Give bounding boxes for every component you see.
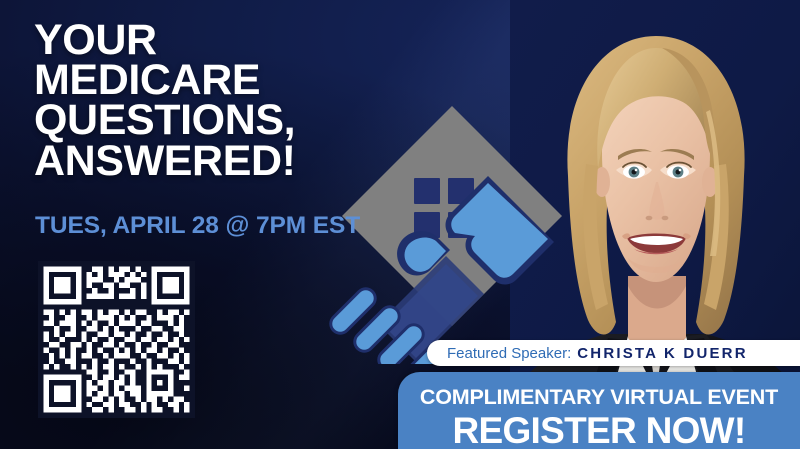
register-cta-panel[interactable]: COMPLIMENTARY VIRTUAL EVENT REGISTER NOW… (398, 372, 800, 449)
medicare-webinar-banner: YOUR MEDICARE QUESTIONS, ANSWERED! TUES,… (0, 0, 800, 449)
headline-line-3: QUESTIONS, (34, 100, 434, 140)
headline-line-4: ANSWERED! (34, 141, 434, 181)
featured-speaker-bar: Featured Speaker: CHRISTA K DUERR (427, 340, 800, 366)
headline-line-2: MEDICARE (34, 60, 434, 100)
cta-register-now[interactable]: REGISTER NOW! (398, 412, 800, 449)
headline-line-1: YOUR (34, 20, 434, 60)
cta-subtitle: COMPLIMENTARY VIRTUAL EVENT (398, 385, 800, 410)
qr-code[interactable] (38, 261, 195, 418)
page-title: YOUR MEDICARE QUESTIONS, ANSWERED! (34, 20, 434, 181)
featured-speaker-label: Featured Speaker: (447, 345, 571, 362)
featured-speaker-name: CHRISTA K DUERR (577, 345, 748, 362)
event-datetime: TUES, APRIL 28 @ 7PM EST (35, 212, 360, 240)
